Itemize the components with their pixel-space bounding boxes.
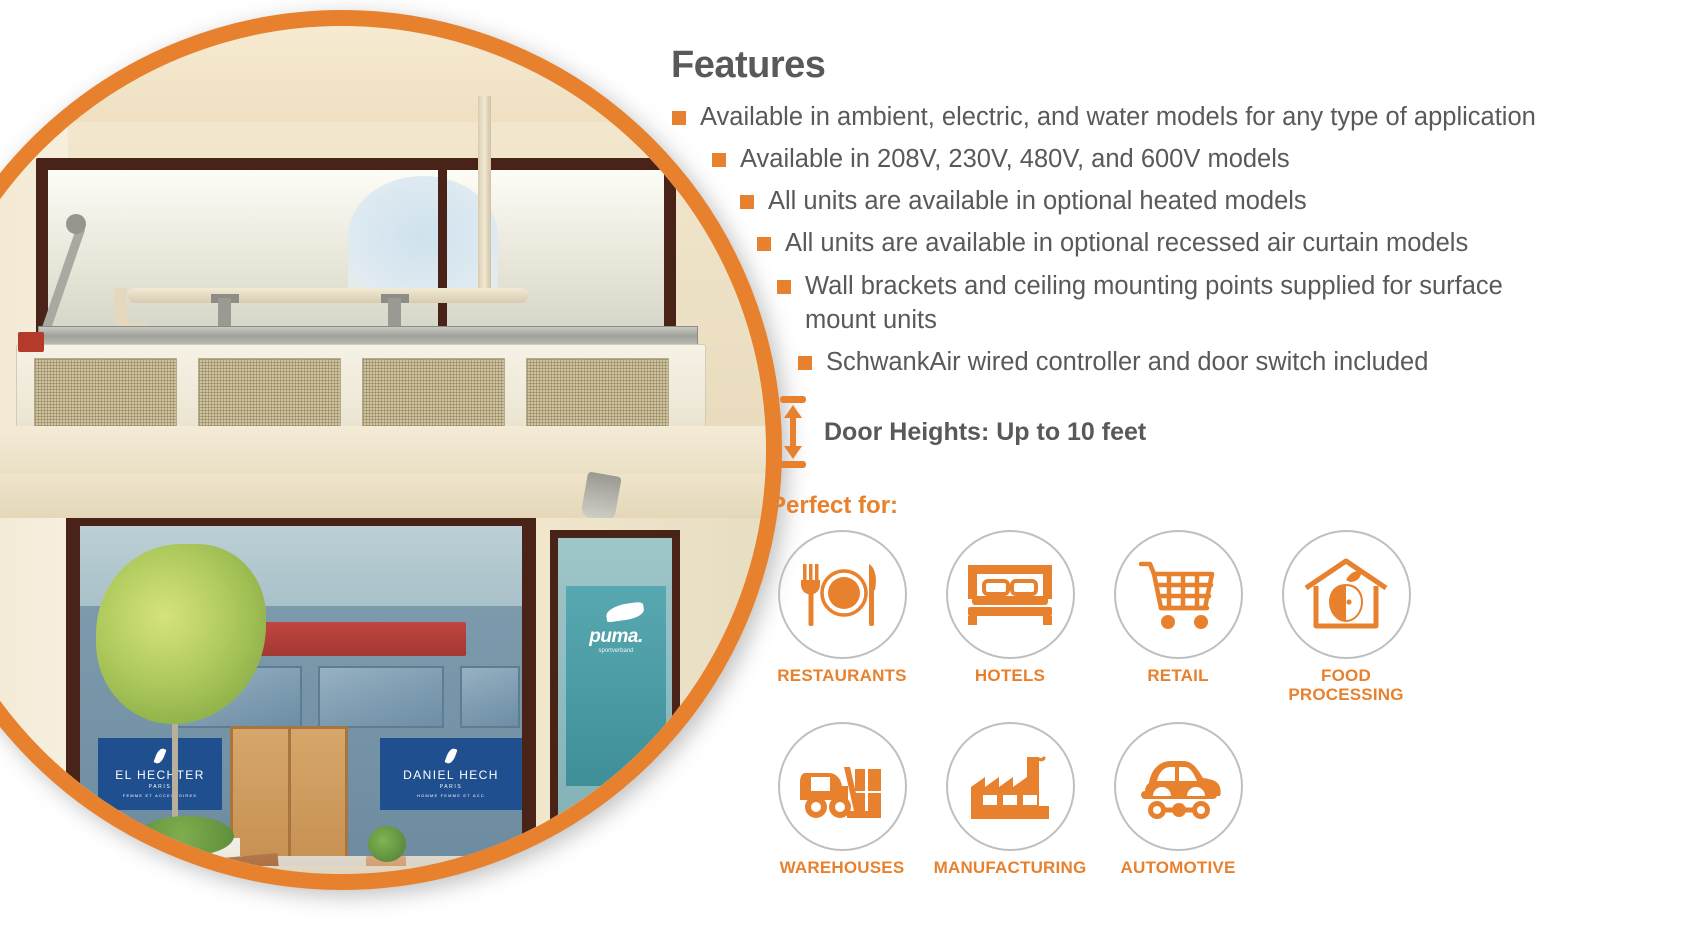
perfect-for-label-retail: RETAIL [1094,667,1262,686]
food-processing-icon [1304,558,1388,632]
bullet-square-icon [740,195,754,209]
feature-text: All units are available in optional heat… [768,184,1307,218]
storefront-sign-right-sub: PARIS [380,784,522,790]
factory-icon-circle [946,722,1075,851]
bed-icon [966,563,1054,627]
photo-left-wall-lower [0,518,68,874]
photo-exterior-window [460,666,520,728]
perfect-for-item-manufacturing[interactable]: MANUFACTURING [926,722,1094,878]
icon-cell-empty [1262,722,1430,878]
vertical-double-arrow-icon [778,396,808,468]
food-processing-icon-circle [1282,530,1411,659]
feature-item: Wall brackets and ceiling mounting point… [777,269,1696,337]
factory-icon [967,751,1053,823]
photo-open-doorway-view: EL HECHTER PARIS FEMME ET ACCESSOIRES DA… [80,526,522,874]
photo-duct-horizontal [128,288,528,303]
photo-support-rod-knob [66,214,86,234]
perfect-for-label-warehouses: WAREHOUSES [758,859,926,878]
photo-air-curtain-grille [526,358,669,436]
feature-item: SchwankAir wired controller and door swi… [798,345,1696,379]
photo-topiary [368,826,406,862]
perfect-for-label: Perfect for: [770,492,898,520]
photo-air-curtain-grille [34,358,177,436]
photo-exterior-window [318,666,444,728]
hechter-leaf-icon [154,747,167,765]
photo-interior-floor [0,866,766,874]
door-heights-callout: Door Heights: Up to 10 feet [778,396,1146,468]
shopping-cart-icon [1139,559,1217,631]
brand-banner-text: puma. [568,626,664,648]
photo-transom-blue-reflection [348,176,498,296]
perfect-for-label-manufacturing: MANUFACTURING [926,859,1094,878]
feature-text: Available in ambient, electric, and wate… [700,100,1536,134]
storefront-sign-left-sub2: FEMME ET ACCESSOIRES [98,793,222,798]
photo-duct-vertical [478,96,491,296]
perfect-for-item-retail[interactable]: RETAIL [1094,530,1262,704]
bullet-square-icon [798,356,812,370]
restaurant-icon-circle [778,530,907,659]
features-list: Available in ambient, electric, and wate… [672,100,1696,387]
photo-shrub [138,816,234,856]
perfect-for-label-food-processing: FOOD PROCESSING [1262,667,1430,704]
feature-text: All units are available in optional rece… [785,226,1468,260]
storefront-sign-right: DANIEL HECH PARIS HOMME FEMME ET ACC [380,738,522,810]
perfect-for-item-warehouses[interactable]: WAREHOUSES [758,722,926,878]
storefront-sign-left: EL HECHTER PARIS FEMME ET ACCESSOIRES [98,738,222,810]
perfect-for-item-restaurants[interactable]: RESTAURANTS [758,530,926,704]
bullet-square-icon [672,111,686,125]
bullet-square-icon [757,237,771,251]
brand-banner-subtext: sportverband [568,648,664,654]
storefront-sign-right-name: DANIEL HECH [380,768,522,782]
perfect-for-label-restaurants: RESTAURANTS [758,667,926,686]
photo-air-curtain-grille [362,358,505,436]
feature-item: Available in ambient, electric, and wate… [672,100,1696,134]
perfect-for-label-automotive: AUTOMOTIVE [1094,859,1262,878]
feature-item: All units are available in optional rece… [757,226,1696,260]
feature-text: Wall brackets and ceiling mounting point… [805,269,1565,337]
forklift-icon [799,753,885,821]
bed-icon-circle [946,530,1075,659]
icon-row-1: RESTAURANTS [758,530,1458,704]
storefront-sign-left-sub: PARIS [98,784,222,790]
page-title: Features [671,44,825,87]
bullet-square-icon [712,153,726,167]
storefront-sign-right-sub2: HOMME FEMME ET ACC [380,793,522,798]
circular-photo-frame: SchwankAir puma. sportverband [0,10,782,890]
icon-row-2: WAREHOUSES [758,722,1458,878]
hechter-leaf-icon [445,747,458,765]
perfect-for-icon-grid: RESTAURANTS [758,530,1458,878]
photo-ceiling [0,26,766,122]
photo-mounting-rail [38,326,698,346]
photo-soffit [0,426,766,478]
perfect-for-item-food-processing[interactable]: FOOD PROCESSING [1262,530,1430,704]
perfect-for-item-hotels[interactable]: HOTELS [926,530,1094,704]
photo-air-curtain-grille [198,358,341,436]
photo-red-junction-box [18,332,44,352]
bullet-square-icon [777,280,791,294]
feature-text: Available in 208V, 230V, 480V, and 600V … [740,142,1290,176]
photo-wooden-door-split [288,726,291,874]
features-content-panel: Features Available in ambient, electric,… [672,0,1696,926]
storefront-sign-left-name: EL HECHTER [98,768,222,782]
photo-image: SchwankAir puma. sportverband [0,26,766,874]
forklift-icon-circle [778,722,907,851]
car-icon-circle [1114,722,1243,851]
perfect-for-label-hotels: HOTELS [926,667,1094,686]
feature-item: Available in 208V, 230V, 480V, and 600V … [712,142,1696,176]
restaurant-icon [799,562,885,628]
car-icon [1135,753,1221,821]
door-heights-label: Door Heights: Up to 10 feet [824,418,1146,447]
shopping-cart-icon-circle [1114,530,1243,659]
feature-text: SchwankAir wired controller and door swi… [826,345,1428,379]
feature-item: All units are available in optional heat… [740,184,1696,218]
perfect-for-item-automotive[interactable]: AUTOMOTIVE [1094,722,1262,878]
